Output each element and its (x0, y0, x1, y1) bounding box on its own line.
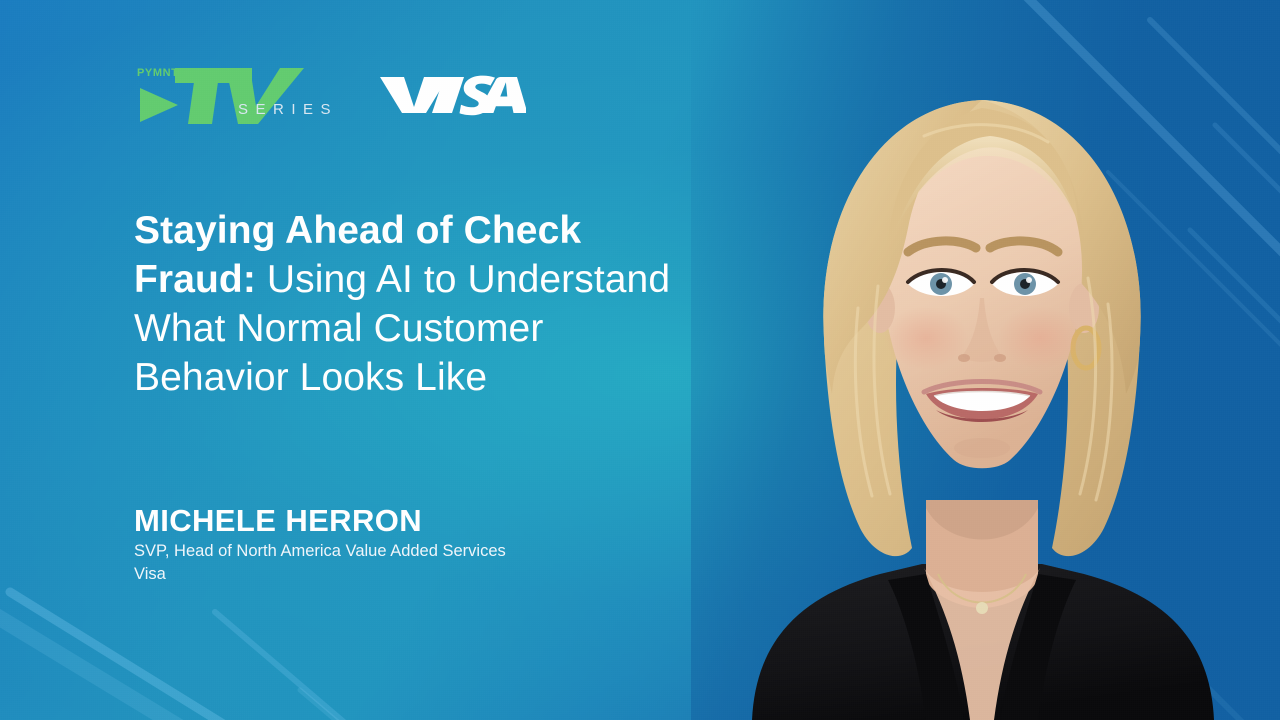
play-triangle-icon (140, 88, 178, 122)
speaker-organization: Visa (134, 563, 694, 586)
right-background-wash (691, 0, 1280, 720)
visa-logo[interactable] (378, 69, 526, 124)
page-title: Staying Ahead of Check Fraud: Using AI t… (134, 206, 694, 402)
pymnts-wordmark: PYMNTS (137, 68, 186, 79)
pymnts-tv-logo[interactable]: PYMNTS SERIES (134, 66, 352, 128)
visa-wordmark-glyph (378, 69, 526, 119)
speaker-name: MICHELE HERRON (134, 502, 694, 540)
series-wordmark: SERIES (238, 102, 338, 117)
video-title-card: PYMNTS SERIES (0, 0, 1280, 720)
header-logos: PYMNTS SERIES (134, 66, 526, 128)
speaker-role: SVP, Head of North America Value Added S… (134, 540, 694, 563)
speaker-block: MICHELE HERRON SVP, Head of North Americ… (134, 502, 694, 586)
